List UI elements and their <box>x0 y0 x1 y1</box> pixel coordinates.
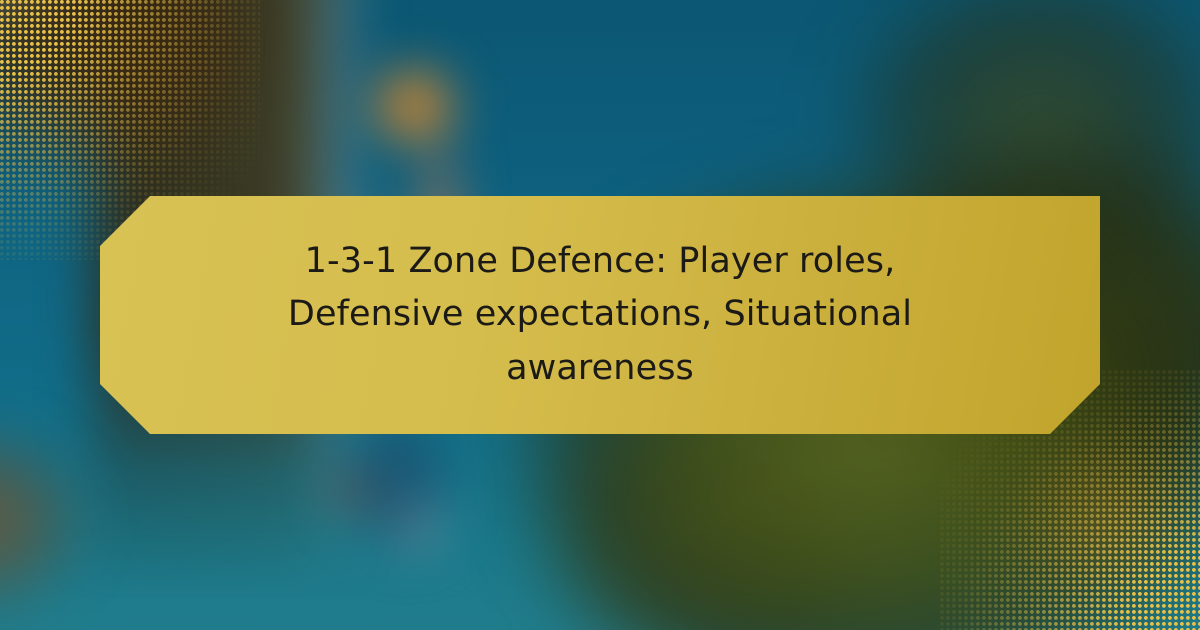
page-title: 1-3-1 Zone Defence: Player roles, Defens… <box>220 235 980 395</box>
title-banner: 1-3-1 Zone Defence: Player roles, Defens… <box>100 196 1100 434</box>
social-share-card: 1-3-1 Zone Defence: Player roles, Defens… <box>0 0 1200 630</box>
